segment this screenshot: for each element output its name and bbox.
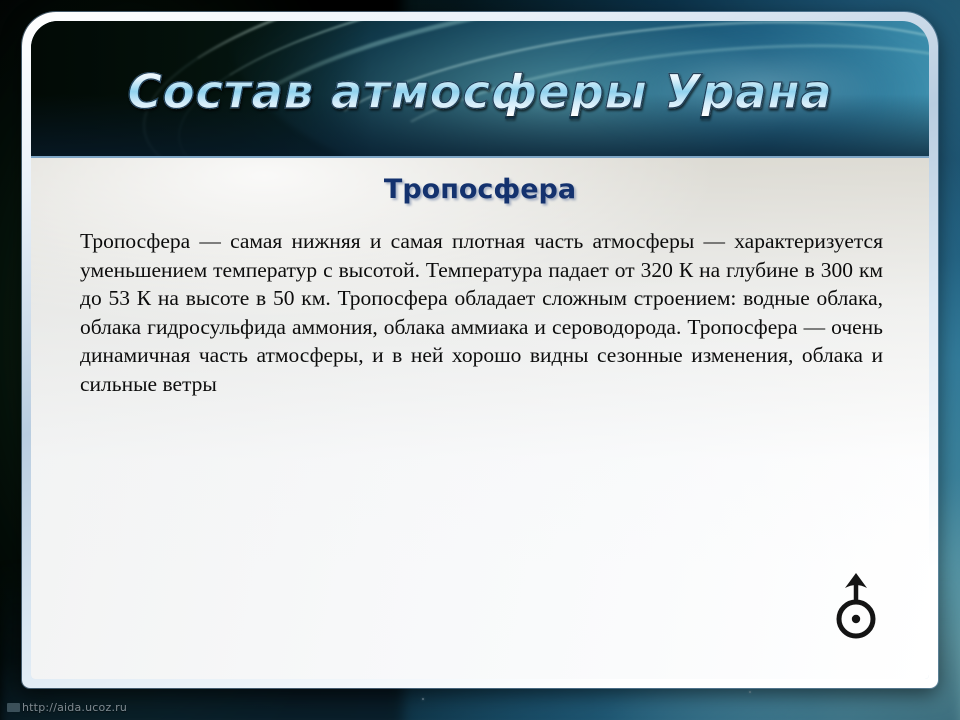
header-shadow-bottom bbox=[31, 94, 929, 156]
section-heading: Тропосфера bbox=[31, 158, 929, 205]
content-panel: Тропосфера Тропосфера — самая нижняя и с… bbox=[31, 158, 929, 679]
body-paragraph: Тропосфера — самая нижняя и самая плотна… bbox=[31, 205, 929, 399]
uranus-astronomical-symbol bbox=[827, 569, 885, 641]
watermark-text: http://aida.ucoz.ru bbox=[22, 701, 127, 714]
header-banner: Состав атмосферы Урана bbox=[31, 21, 929, 158]
watermark-logo-icon bbox=[7, 703, 20, 712]
watermark: http://aida.ucoz.ru bbox=[7, 701, 127, 714]
slide-frame-inner: Состав атмосферы Урана Тропосфера Тропос… bbox=[31, 21, 929, 679]
slide-frame: Состав атмосферы Урана Тропосфера Тропос… bbox=[22, 12, 938, 688]
slide: Состав атмосферы Урана Тропосфера Тропос… bbox=[0, 0, 960, 720]
